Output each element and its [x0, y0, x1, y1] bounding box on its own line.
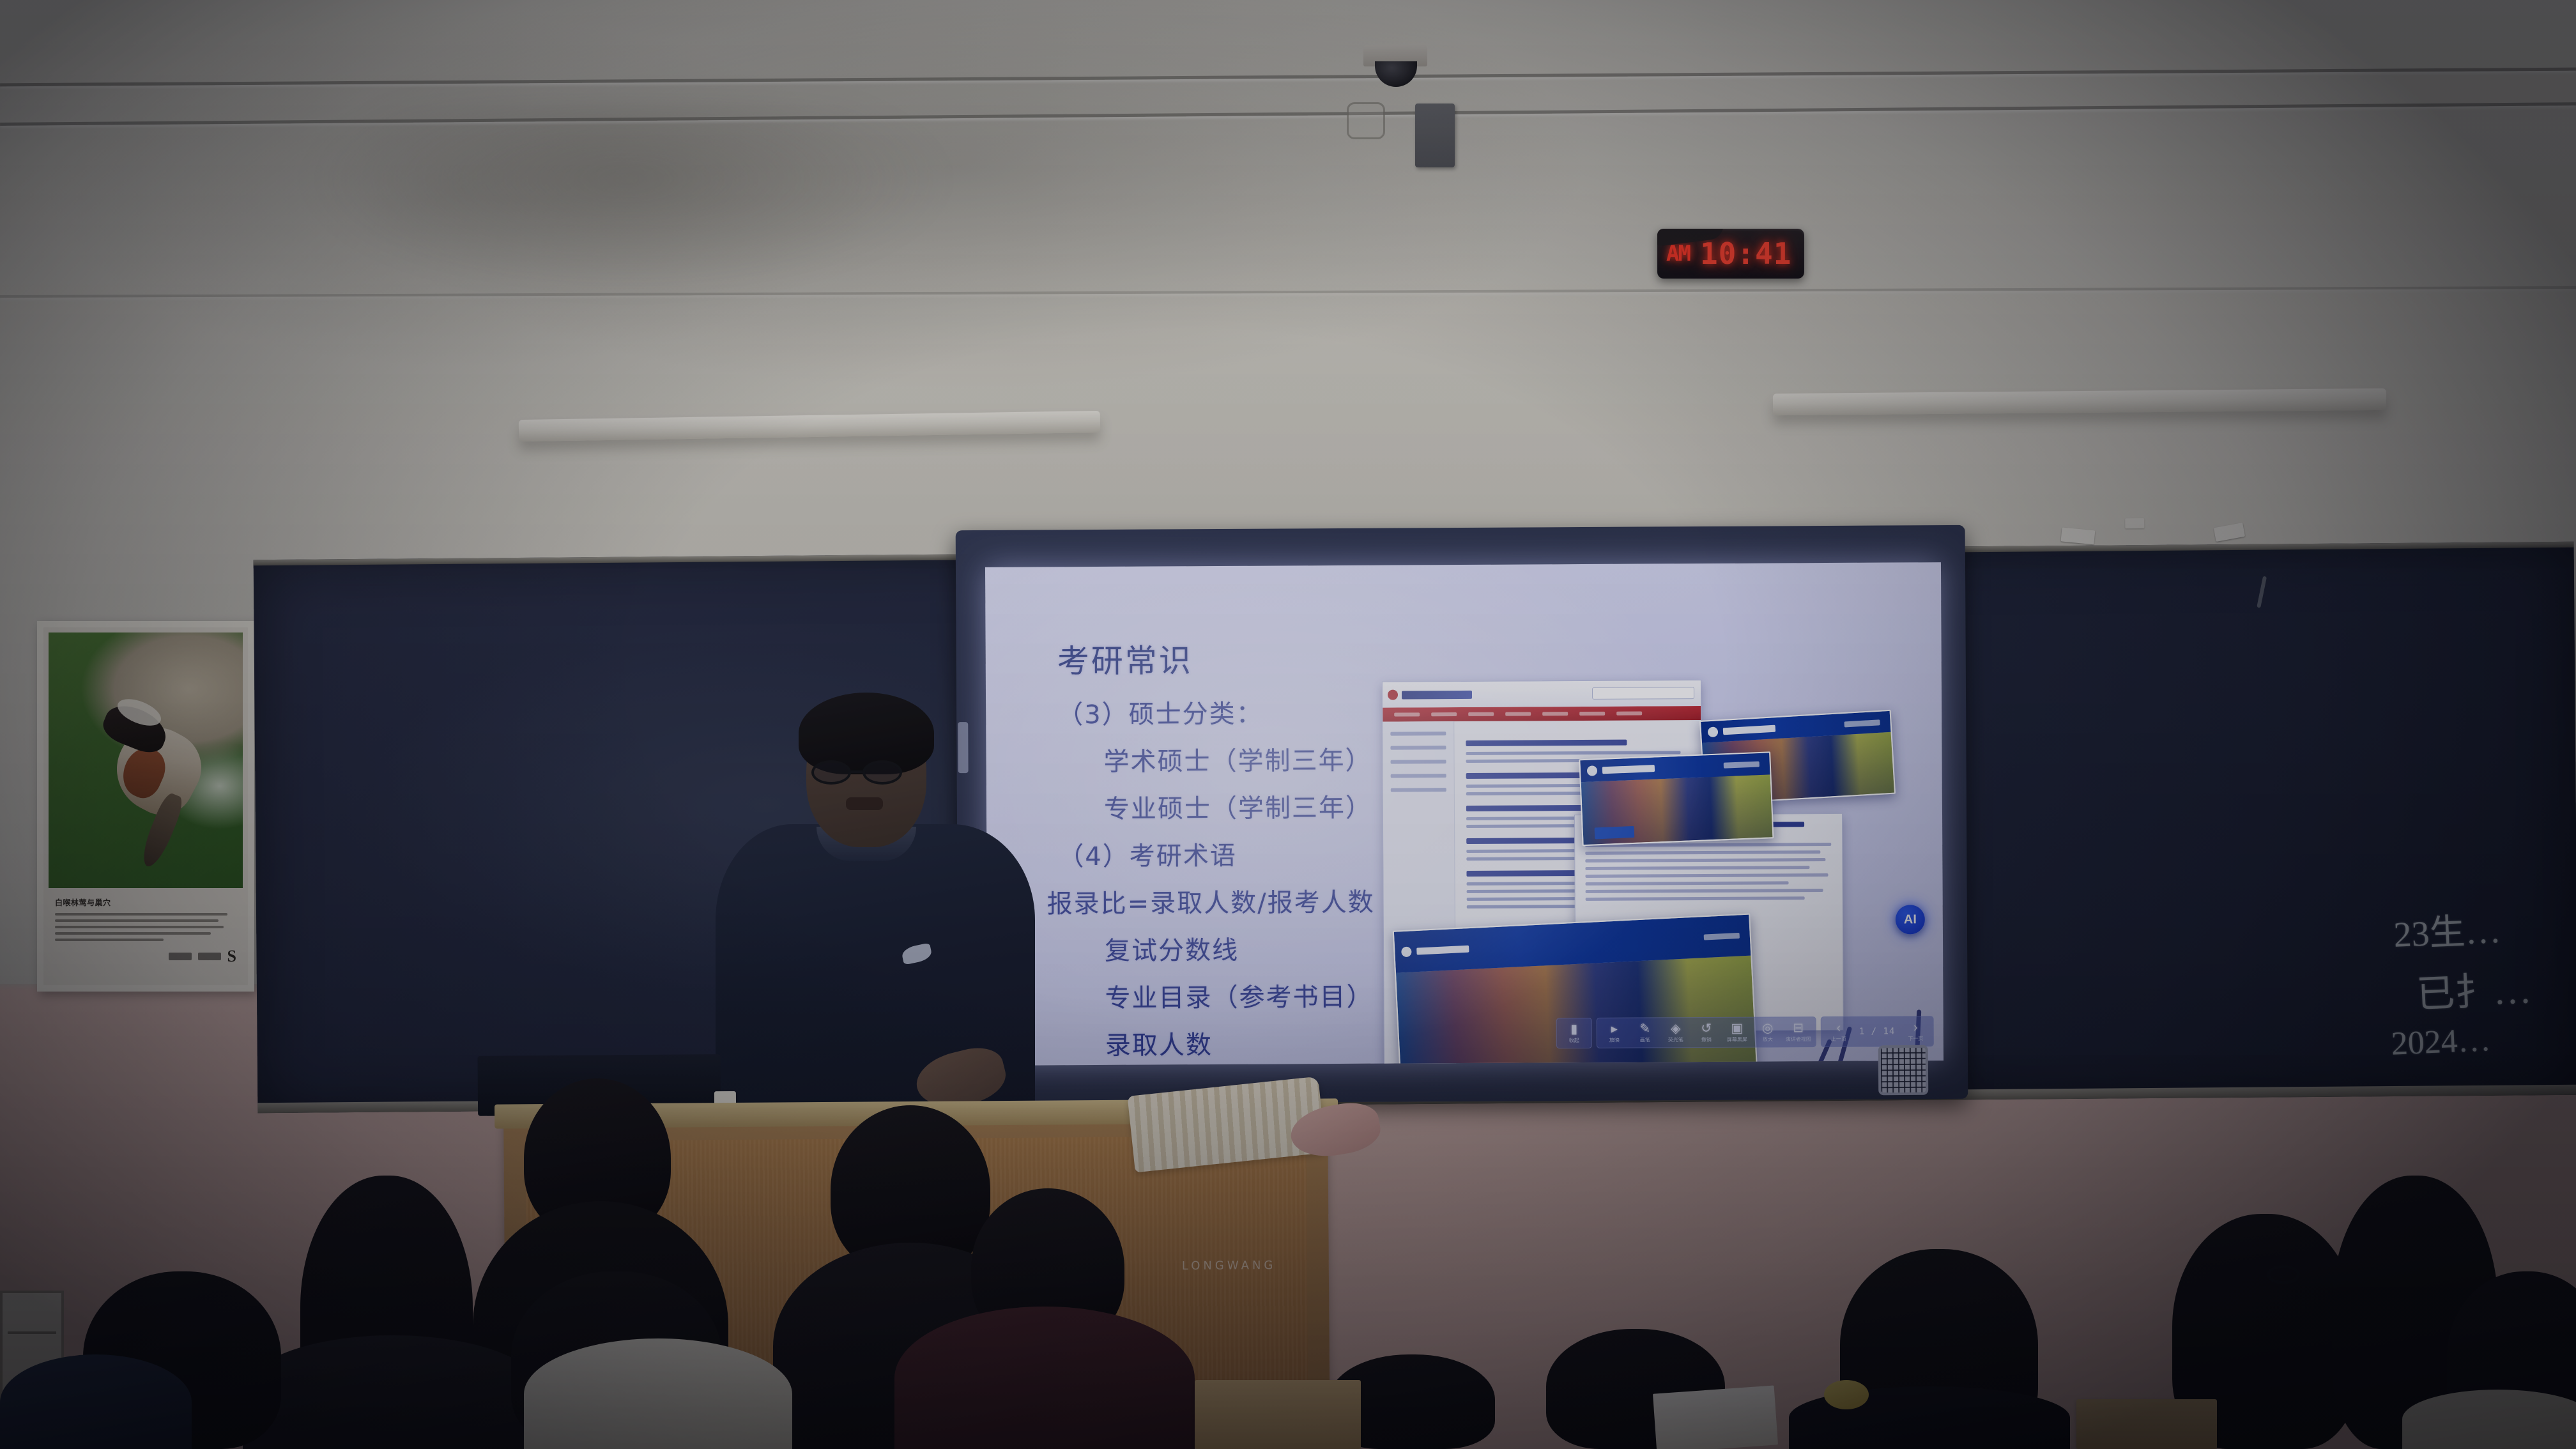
highlighter-icon: ◈ [1671, 1022, 1680, 1035]
toolbar-group-navigation[interactable]: ‹ 上一页 1 / 14 › 下一页 [1821, 1016, 1934, 1047]
student-desk [2076, 1399, 2217, 1449]
wall-speaker-icon [1415, 103, 1455, 167]
hair-tie [1824, 1380, 1869, 1409]
audience-shoulders [894, 1307, 1195, 1449]
slide-title: 考研常识 [1057, 635, 1193, 682]
toolbar-pen-label: 画笔 [1640, 1036, 1650, 1043]
toolbar-group-collapse[interactable]: ▮ 收起 [1556, 1018, 1592, 1048]
page-indicator: 1 / 14 [1854, 1026, 1901, 1036]
wall-plate [1347, 102, 1385, 139]
toolbar-highlighter-label: 荧光笔 [1668, 1036, 1683, 1043]
chevron-left-icon: ‹ [1836, 1021, 1841, 1034]
campus-photo [1396, 956, 1756, 1066]
university-name [1402, 690, 1472, 699]
campus-tag [1594, 826, 1634, 839]
poster-caption: 白喉林莺与巢穴 S [50, 893, 241, 981]
undo-icon: ↺ [1701, 1022, 1712, 1034]
presenter-view-icon: ⊟ [1793, 1022, 1804, 1034]
chalk-writing-line-1: 23生… [2393, 901, 2502, 958]
toolbar-undo-button[interactable]: ↺ 撤销 [1691, 1019, 1722, 1046]
toolbar-collapse-button[interactable]: ▮ 收起 [1559, 1020, 1590, 1046]
play-icon: ▸ [1611, 1022, 1618, 1035]
pen-icon: ✎ [1639, 1022, 1650, 1035]
blackout-icon: ▣ [1731, 1022, 1743, 1034]
poster-caption-lines [55, 913, 236, 941]
chevron-right-icon: › [1913, 1021, 1918, 1034]
student-desk [1195, 1380, 1361, 1449]
toolbar-prev-page-button[interactable]: ‹ 上一页 [1823, 1018, 1854, 1045]
toolbar-zoom-button[interactable]: ◎ 放大 [1752, 1018, 1783, 1045]
toolbar-play-label: 放映 [1609, 1036, 1620, 1043]
toolbar-next-label: 下一页 [1908, 1035, 1923, 1042]
campus-site-title [1723, 724, 1775, 735]
wall-stain [300, 102, 952, 294]
campus-site-subtitle [1704, 933, 1740, 940]
campus-logo-icon [1401, 946, 1412, 957]
toolbar-presenter-view-button[interactable]: ⊟ 演讲者视图 [1783, 1018, 1814, 1045]
campus-logo-icon [1587, 765, 1598, 776]
classroom-scene: AM 10:41 白喉林莺与巢穴 S [0, 0, 2576, 1449]
presentation-slide: 考研常识 （3）硕士分类： 学术硕士（学制三年） 专业硕士（学制三年） （4）考… [985, 562, 1943, 1066]
toolbar-group-tools[interactable]: ▸ 放映 ✎ 画笔 ◈ 荧光笔 ↺ 撤销 [1597, 1016, 1816, 1048]
toolbar-next-page-button[interactable]: › 下一页 [1900, 1018, 1931, 1045]
toolbar-play-button[interactable]: ▸ 放映 [1599, 1020, 1630, 1046]
audience-shoulders [0, 1354, 192, 1449]
toolbar-presenter-view-label: 演讲者视图 [1786, 1036, 1811, 1043]
audience-shoulders [2402, 1390, 2576, 1449]
toolbar-collapse-label: 收起 [1569, 1037, 1579, 1044]
campus-logo-icon [1708, 726, 1719, 737]
poster-title: 白喉林莺与巢穴 [55, 897, 236, 908]
campus-tag [1422, 1065, 1462, 1066]
chalk-writing-line-3: 2024… [2390, 1021, 2491, 1063]
toolbar-undo-label: 撤销 [1701, 1036, 1712, 1043]
poster-logos: S [169, 947, 236, 966]
lectern-brand-label: LONGWANG [1182, 1259, 1276, 1273]
glasses-icon [808, 760, 926, 785]
qr-code-sticker [1878, 1045, 1929, 1096]
audience-shoulders [524, 1338, 792, 1449]
presentation-toolbar[interactable]: ▮ 收起 ▸ 放映 ✎ 画笔 [1556, 1016, 1934, 1048]
projection-screen[interactable]: 考研常识 （3）硕士分类： 学术硕士（学制三年） 专业硕士（学制三年） （4）考… [985, 562, 1943, 1066]
toolbar-zoom-label: 放大 [1763, 1036, 1773, 1043]
toolbar-pen-button[interactable]: ✎ 画笔 [1630, 1019, 1660, 1046]
presenter [691, 690, 1049, 1137]
digital-wall-clock: AM 10:41 [1657, 229, 1804, 279]
site-navbar [1383, 706, 1701, 722]
presenter-mouth [846, 797, 883, 810]
screenshot-campus-mid [1579, 751, 1774, 846]
board-tape [2125, 518, 2144, 528]
toolbar-blackout-label: 屏幕黑屏 [1727, 1036, 1747, 1043]
toolbar-blackout-button[interactable]: ▣ 屏幕黑屏 [1722, 1019, 1752, 1046]
assistant-fab-button[interactable]: AI [1896, 905, 1925, 934]
site-search-box [1592, 687, 1694, 700]
board-chalk-mark [2257, 576, 2267, 608]
campus-site-title [1602, 765, 1655, 774]
bird-poster: 白喉林莺与巢穴 S [37, 621, 254, 992]
chalk-writing-line-2: 已扌… [2415, 958, 2533, 1019]
paper-sheet [1653, 1385, 1778, 1449]
campus-site-subtitle [1724, 762, 1759, 769]
glasses-icon [2267, 1265, 2300, 1284]
clock-time: 10:41 [1700, 236, 1791, 271]
zoom-icon: ◎ [1762, 1022, 1774, 1034]
site-header [1383, 680, 1701, 708]
campus-site-title [1416, 946, 1469, 955]
collapse-icon: ▮ [1570, 1023, 1577, 1036]
toolbar-prev-label: 上一页 [1831, 1035, 1846, 1042]
poster-photo [49, 632, 243, 888]
campus-site-subtitle [1844, 719, 1880, 727]
poster-mark: S [227, 947, 236, 966]
university-logo-icon [1388, 690, 1398, 700]
audience-shoulders [243, 1335, 543, 1449]
clock-ampm: AM [1666, 241, 1690, 266]
interactive-whiteboard[interactable]: 考研常识 （3）硕士分类： 学术硕士（学制三年） 专业硕士（学制三年） （4）考… [956, 525, 1968, 1104]
toolbar-highlighter-button[interactable]: ◈ 荧光笔 [1660, 1019, 1691, 1046]
